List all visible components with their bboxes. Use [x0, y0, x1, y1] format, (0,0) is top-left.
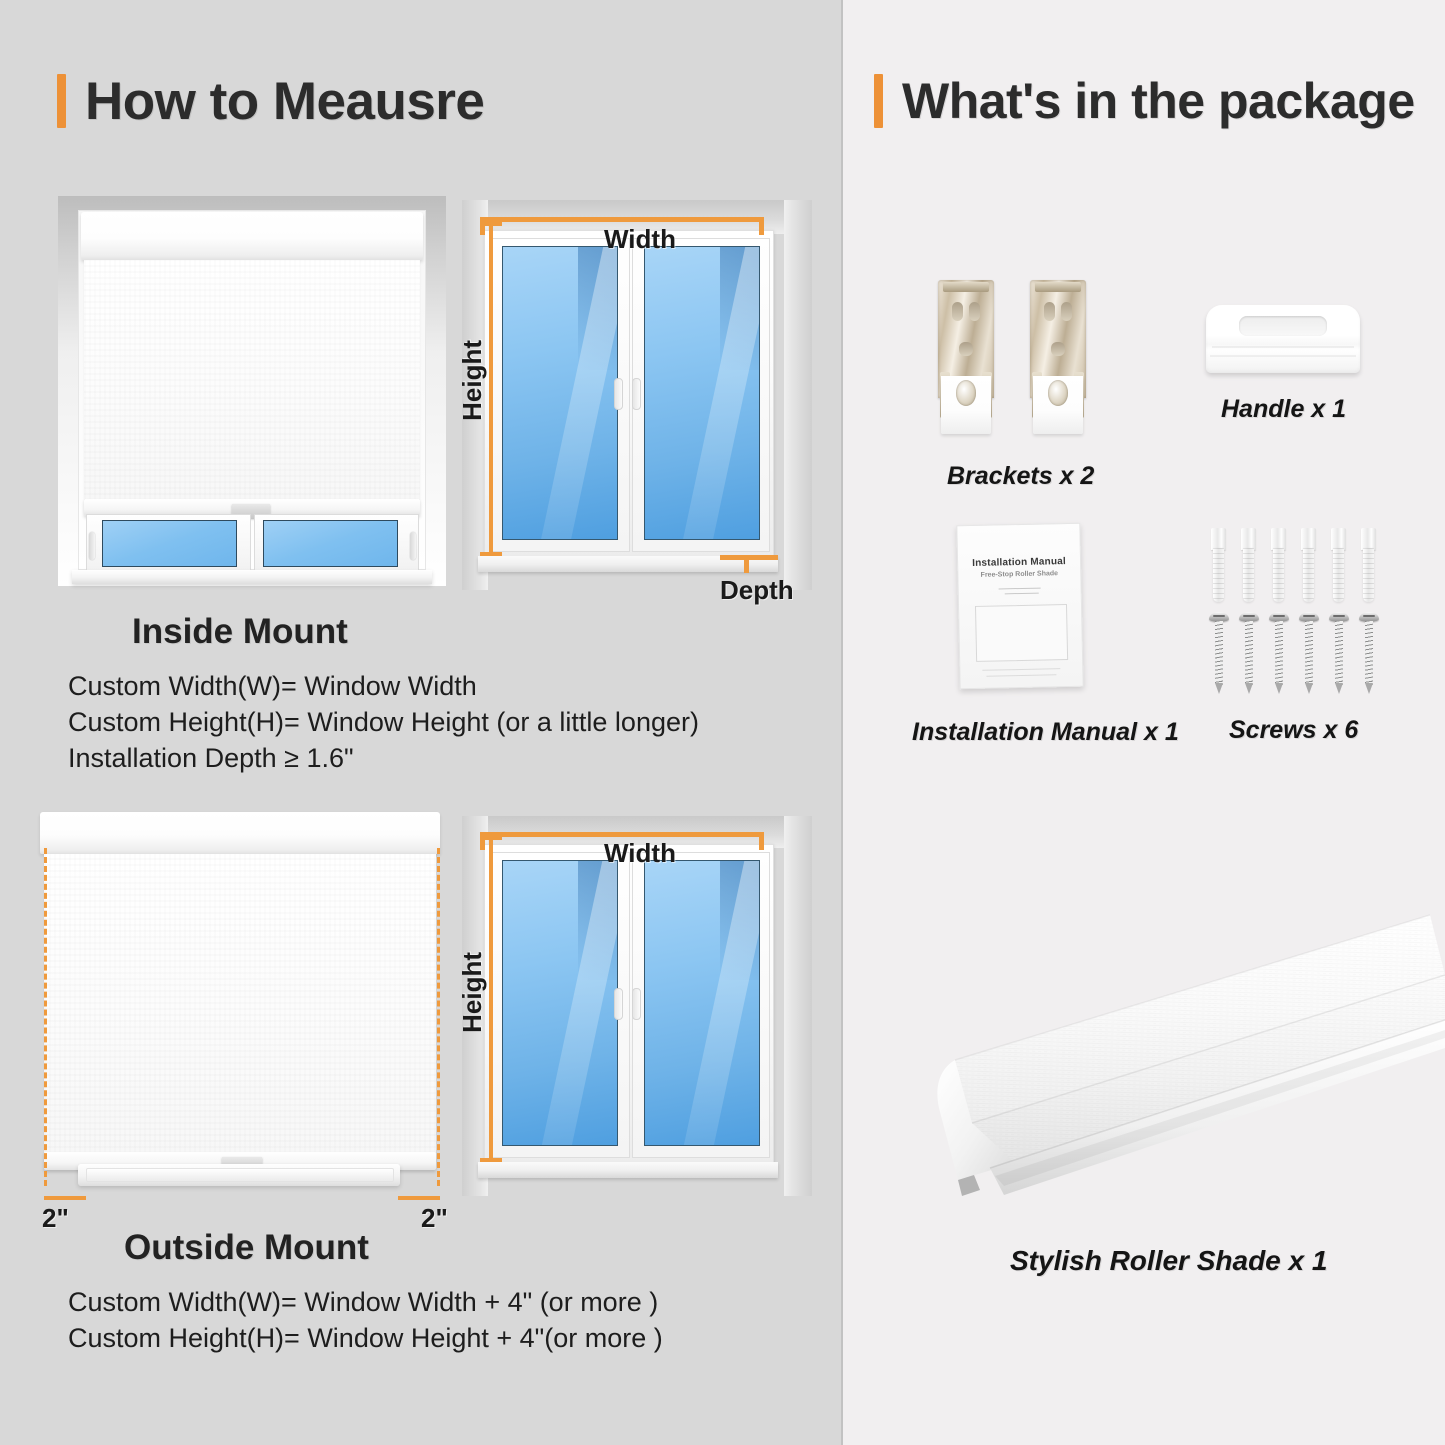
- wall-anchor-5: [1330, 528, 1347, 602]
- handle-ridge-2: [1210, 355, 1356, 357]
- screw-5: [1329, 612, 1349, 694]
- screw-6: [1359, 612, 1379, 694]
- bracket-item-1: [938, 280, 994, 435]
- package-heading: What's in the package: [874, 74, 1415, 128]
- handle-item: [1206, 305, 1360, 373]
- screw-slot-5: [1333, 615, 1345, 617]
- height-dimension-tick-bottom: [480, 552, 502, 556]
- width-dimension-tick-left-2: [480, 832, 485, 850]
- height-dimension-line: [489, 222, 493, 556]
- anchor-collar: [1211, 528, 1226, 550]
- screw-tip-6: [1365, 683, 1373, 694]
- anchor-body-3: [1273, 548, 1284, 602]
- outside-shade-headrail: [40, 812, 440, 854]
- bracket-screw-hole: [956, 380, 976, 406]
- screw-tip-2: [1245, 683, 1253, 694]
- anchor-collar-5: [1331, 528, 1346, 550]
- outside-shade-fabric: [44, 854, 436, 1154]
- anchor-collar-6: [1361, 528, 1376, 550]
- heading-left-text: How to Meausre: [85, 75, 484, 128]
- outside-right-guide: [437, 848, 440, 1186]
- manual-cover-title: Installation Manual: [958, 556, 1080, 570]
- brackets-label: Brackets x 2: [947, 462, 1094, 491]
- screw-shaft-5: [1335, 621, 1343, 685]
- bracket-screw-hole-2: [1048, 380, 1068, 406]
- window-lever-right-icon-2: [632, 988, 641, 1020]
- screw-slot-2: [1243, 615, 1255, 617]
- how-to-measure-heading: How to Meausre: [57, 74, 484, 128]
- inside-mount-spec-depth: Installation Depth ≥ 1.6": [68, 740, 699, 776]
- handle-label: Handle x 1: [1221, 395, 1346, 424]
- manual-cover-illustration: [975, 604, 1068, 662]
- outside-mount-shade-illustration: [40, 812, 445, 1190]
- screw-1: [1209, 612, 1229, 694]
- anchor-body: [1213, 548, 1224, 602]
- bracket-slot-c: [959, 342, 973, 356]
- screw-shaft-6: [1365, 621, 1373, 685]
- height-label: Height: [457, 340, 488, 421]
- anchor-body-6: [1363, 548, 1374, 602]
- window-lever-left-icon: [614, 378, 623, 410]
- screw-slot-6: [1363, 615, 1375, 617]
- inside-mount-specs: Custom Width(W)= Window Width Custom Hei…: [68, 668, 699, 776]
- screw-4: [1299, 612, 1319, 694]
- width-dimension-tick-left: [480, 217, 485, 235]
- width-label-2: Width: [604, 838, 676, 869]
- width-dimension-tick-right-2: [759, 832, 764, 850]
- window-lever-left-icon-2: [614, 988, 623, 1020]
- anchor-body-5: [1333, 548, 1344, 602]
- height-dimension-tick-top-2: [480, 836, 502, 840]
- window-lever-right-icon: [632, 378, 641, 410]
- window-glass-pane-right: [644, 246, 760, 540]
- window-glass-left: [102, 520, 237, 567]
- overhang-left-label: 2": [42, 1203, 69, 1234]
- width-label: Width: [604, 224, 676, 255]
- screw-tip-4: [1305, 683, 1313, 694]
- height-label-2: Height: [457, 952, 488, 1033]
- screw-slot-4: [1303, 615, 1315, 617]
- handle-grip-slot: [1239, 316, 1327, 336]
- width-dimension-line: [480, 217, 764, 222]
- height-dimension-tick-top: [480, 222, 502, 226]
- outside-left-guide: [44, 848, 47, 1186]
- bracket-slot-b: [969, 302, 980, 321]
- outside-mount-spec-width: Custom Width(W)= Window Width + 4" (or m…: [68, 1284, 663, 1320]
- manual-cover-subtitle: Free-Stop Roller Shade: [958, 570, 1080, 580]
- bracket-slot-a: [952, 302, 963, 321]
- bracket-slot-c-2: [1051, 342, 1065, 356]
- window-glass-pane-right-2: [644, 860, 760, 1146]
- inside-mount-shade-illustration: [58, 196, 446, 586]
- width-dimension-line-2: [480, 832, 764, 837]
- manual-scribble-2: [1005, 593, 1039, 595]
- anchor-body-2: [1243, 548, 1254, 602]
- screw-3: [1269, 612, 1289, 694]
- screw-shaft-2: [1245, 621, 1253, 685]
- outside-window-sash: [86, 1168, 394, 1182]
- anchor-body-4: [1303, 548, 1314, 602]
- screw-shaft-3: [1275, 621, 1283, 685]
- handle-ridge-1: [1212, 346, 1354, 348]
- screw-shaft-4: [1305, 621, 1313, 685]
- installation-manual-item: Installation Manual Free-Stop Roller Sha…: [956, 523, 1083, 690]
- infographic-page: How to Meausre: [0, 0, 1445, 1445]
- inside-mount-title: Inside Mount: [132, 612, 348, 652]
- window-glass-pane-left: [502, 246, 618, 540]
- window-right-wall: [784, 200, 812, 590]
- wall-anchor-1: [1210, 528, 1227, 602]
- installation-manual-label: Installation Manual x 1: [912, 718, 1179, 747]
- manual-foot-line-2: [986, 674, 1056, 676]
- outside-mount-title: Outside Mount: [124, 1228, 369, 1268]
- wall-anchor-6: [1360, 528, 1377, 602]
- window-right-wall-2: [784, 816, 812, 1196]
- roller-shade-svg: [900, 880, 1445, 1220]
- screw-slot: [1213, 615, 1225, 617]
- shade-fabric: [84, 260, 420, 501]
- anchor-collar-2: [1241, 528, 1256, 550]
- overhang-right-label: 2": [421, 1203, 448, 1234]
- window-sill-3: [478, 1162, 778, 1178]
- width-dimension-tick-right: [759, 217, 764, 235]
- accent-bar-icon-2: [874, 74, 883, 128]
- screw-shaft: [1215, 621, 1223, 685]
- bracket-slot-a-2: [1044, 302, 1055, 321]
- bracket-item-2: [1030, 280, 1086, 435]
- screw-tip-3: [1275, 683, 1283, 694]
- depth-dimension-tick: [744, 555, 749, 573]
- window-handle-left-icon: [89, 532, 95, 560]
- manual-foot-line-1: [982, 668, 1060, 671]
- depth-dimension-line: [720, 555, 778, 560]
- anchor-collar-4: [1301, 528, 1316, 550]
- window-handle-right-icon: [410, 532, 416, 560]
- heading-right-text: What's in the package: [902, 76, 1415, 126]
- manual-scribble-1: [999, 588, 1041, 590]
- wall-anchor-3: [1270, 528, 1287, 602]
- screw-2: [1239, 612, 1259, 694]
- wall-anchor-2: [1240, 528, 1257, 602]
- roller-shade-item: [900, 880, 1445, 1220]
- inside-mount-window-diagram: Width Height Depth: [462, 200, 812, 590]
- inside-mount-spec-width: Custom Width(W)= Window Width: [68, 668, 699, 704]
- bracket-slot-b-2: [1061, 302, 1072, 321]
- height-dimension-tick-bottom-2: [480, 1158, 502, 1162]
- bracket-top-tab-2: [1035, 282, 1081, 292]
- shade-headrail: [81, 212, 423, 260]
- bracket-top-tab: [943, 282, 989, 292]
- wall-anchor-4: [1300, 528, 1317, 602]
- screw-tip: [1215, 683, 1223, 694]
- accent-bar-icon: [57, 74, 66, 128]
- outside-mount-specs: Custom Width(W)= Window Width + 4" (or m…: [68, 1284, 663, 1356]
- screws-label: Screws x 6: [1229, 716, 1358, 745]
- height-dimension-line-2: [489, 836, 493, 1162]
- roller-shade-label: Stylish Roller Shade x 1: [1010, 1245, 1327, 1277]
- window-glass-right: [263, 520, 398, 567]
- screw-tip-5: [1335, 683, 1343, 694]
- anchor-collar-3: [1271, 528, 1286, 550]
- inside-mount-spec-height: Custom Height(H)= Window Height (or a li…: [68, 704, 699, 740]
- screw-slot-3: [1273, 615, 1285, 617]
- overhang-right-line: [398, 1196, 440, 1200]
- outside-mount-window-diagram: Width Height: [462, 816, 812, 1196]
- window-glass-pane-left-2: [502, 860, 618, 1146]
- overhang-left-line: [44, 1196, 86, 1200]
- window-sill: [72, 570, 432, 584]
- depth-label: Depth: [720, 575, 794, 606]
- outside-mount-spec-height: Custom Height(H)= Window Height + 4"(or …: [68, 1320, 663, 1356]
